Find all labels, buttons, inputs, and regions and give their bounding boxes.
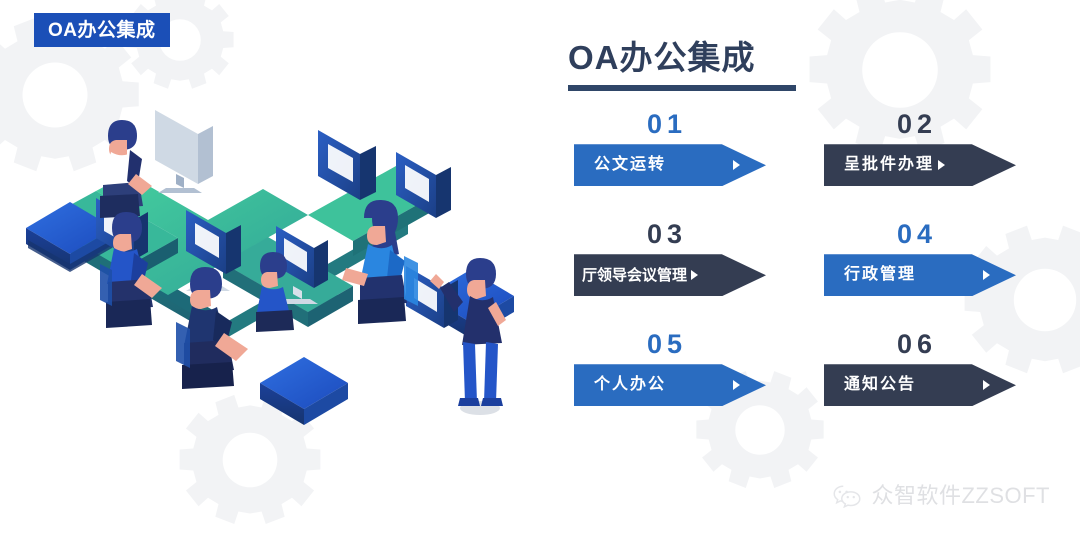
feature-cell-06: 06 通知公告 <box>810 331 1060 441</box>
office-illustration <box>8 78 548 448</box>
slide-badge: OA办公集成 <box>34 13 170 47</box>
office-illustration-svg <box>8 78 548 448</box>
feature-label-03: 厅领导会议管理 <box>582 268 687 283</box>
chevron-right-icon <box>733 380 740 390</box>
brand-watermark: 众智软件ZZSOFT <box>832 484 1050 508</box>
feature-grid: 01 公文运转 02 呈批件办理 03 厅领导会议管理 <box>560 111 1030 441</box>
slide-root: OA办公集成 <box>0 0 1080 536</box>
feature-number-06: 06 <box>824 331 1010 358</box>
feature-label-02: 呈批件办理 <box>844 157 934 173</box>
feature-button-03[interactable]: 厅领导会议管理 <box>574 254 766 296</box>
person-standing-right <box>430 258 506 415</box>
feature-cell-01: 01 公文运转 <box>560 111 810 221</box>
content-panel: OA办公集成 01 公文运转 02 呈批件办理 03 厅领导 <box>560 40 1030 440</box>
chevron-right-icon <box>691 270 698 280</box>
feature-label-06: 通知公告 <box>844 377 916 393</box>
feature-cell-02: 02 呈批件办理 <box>810 111 1060 221</box>
feature-button-01[interactable]: 公文运转 <box>574 144 766 186</box>
feature-button-06[interactable]: 通知公告 <box>824 364 1016 406</box>
feature-button-05[interactable]: 个人办公 <box>574 364 766 406</box>
chevron-right-icon <box>983 380 990 390</box>
floating-cube-bottom <box>260 357 348 425</box>
chevron-right-icon <box>983 270 990 280</box>
feature-cell-03: 03 厅领导会议管理 <box>560 221 810 331</box>
feature-number-03: 03 <box>574 221 760 248</box>
chevron-right-icon <box>938 160 945 170</box>
feature-number-05: 05 <box>574 331 760 358</box>
feature-number-04: 04 <box>824 221 1010 248</box>
monitor-top-light <box>155 110 213 193</box>
feature-number-02: 02 <box>824 111 1010 138</box>
feature-button-02[interactable]: 呈批件办理 <box>824 144 1016 186</box>
feature-cell-04: 04 行政管理 <box>810 221 1060 331</box>
page-title: OA办公集成 <box>568 40 1030 76</box>
wechat-icon <box>832 484 862 508</box>
slide-badge-label: OA办公集成 <box>48 21 156 40</box>
monitor-right-a <box>318 130 376 200</box>
chevron-right-icon <box>733 160 740 170</box>
feature-cell-05: 05 个人办公 <box>560 331 810 441</box>
feature-label-05: 个人办公 <box>594 377 666 393</box>
feature-label-04: 行政管理 <box>844 267 916 283</box>
title-underline <box>568 85 796 91</box>
feature-number-01: 01 <box>574 111 760 138</box>
feature-label-01: 公文运转 <box>594 157 666 173</box>
brand-watermark-text: 众智软件ZZSOFT <box>871 485 1050 507</box>
feature-button-04[interactable]: 行政管理 <box>824 254 1016 296</box>
